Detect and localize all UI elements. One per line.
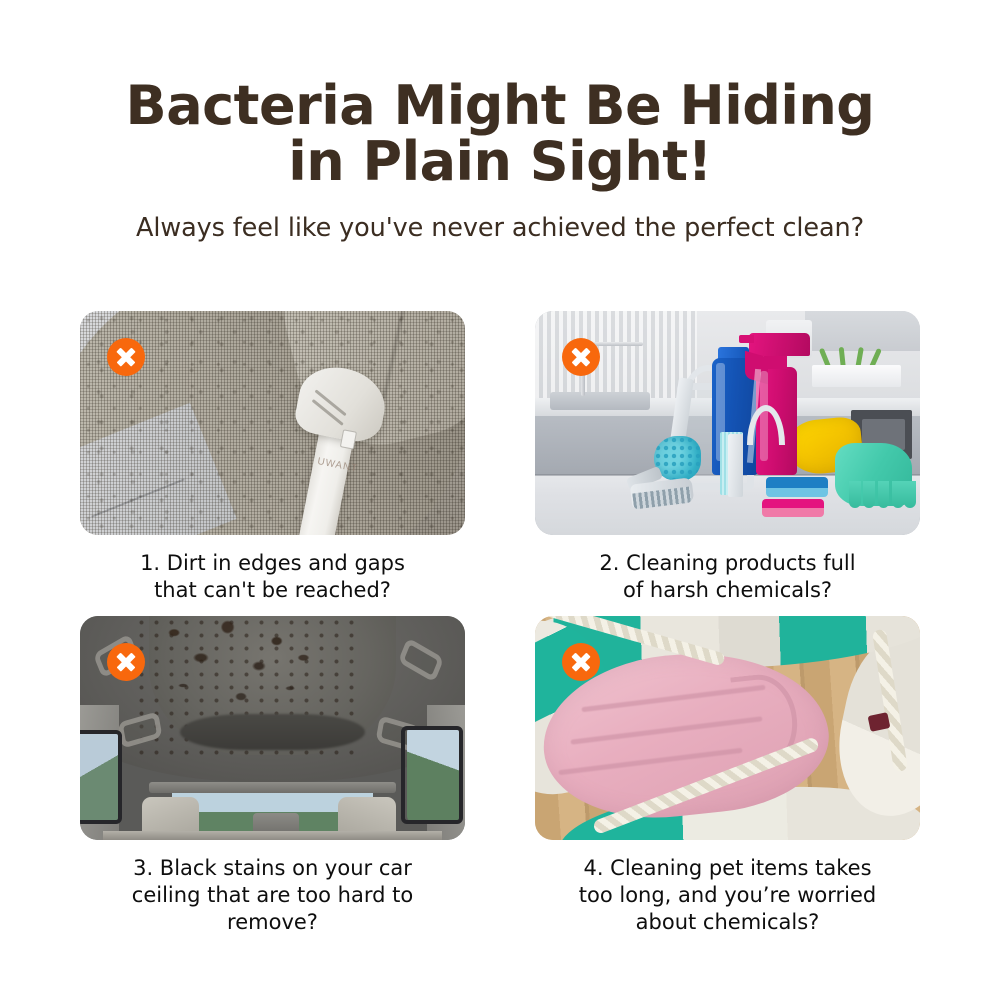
card-2-image xyxy=(535,311,920,535)
header: Bacteria Might Be Hiding in Plain Sight!… xyxy=(0,0,1000,243)
x-mark-icon xyxy=(562,643,600,681)
upper-cabinet xyxy=(805,311,921,351)
pain-point-card-2: 2. Cleaning products full of harsh chemi… xyxy=(535,311,920,604)
card-3-image xyxy=(80,616,465,840)
card-1-caption: 1. Dirt in edges and gaps that can't be … xyxy=(80,550,465,604)
spray-nozzle-tip xyxy=(739,335,754,344)
promo-page: Bacteria Might Be Hiding in Plain Sight!… xyxy=(0,0,1000,983)
x-mark-icon xyxy=(107,338,145,376)
pain-point-grid: UWANT 1. Dirt in edges and gaps that can… xyxy=(80,311,920,935)
card-1-image: UWANT xyxy=(80,311,465,535)
teal-brush-body xyxy=(728,434,743,497)
card-4-caption: 4. Cleaning pet items takes too long, an… xyxy=(535,855,920,936)
left-window-frame xyxy=(80,730,122,824)
card-3-caption: 3. Black stains on your car ceiling that… xyxy=(80,855,465,936)
windshield-header-trim xyxy=(149,782,395,793)
nozzle-release-tab xyxy=(340,429,357,450)
headline-line-1: Bacteria Might Be Hiding xyxy=(126,74,875,137)
page-title: Bacteria Might Be Hiding in Plain Sight! xyxy=(0,78,1000,189)
card-4-image xyxy=(535,616,920,840)
pink-sponge xyxy=(762,499,824,517)
planter-box xyxy=(812,365,901,387)
page-subtitle: Always feel like you've never achieved t… xyxy=(0,213,1000,243)
sunroof-panel xyxy=(180,714,365,750)
dashboard xyxy=(103,831,442,840)
pain-point-card-4: 4. Cleaning pet items takes too long, an… xyxy=(535,616,920,936)
x-mark-icon xyxy=(562,338,600,376)
spray-trigger-head xyxy=(749,333,811,355)
x-mark-icon xyxy=(107,643,145,681)
pain-point-card-1: UWANT 1. Dirt in edges and gaps that can… xyxy=(80,311,465,604)
glove-fingers xyxy=(849,481,914,508)
right-window-frame xyxy=(401,726,463,825)
blue-sponge xyxy=(766,477,828,497)
card-2-caption: 2. Cleaning products full of harsh chemi… xyxy=(535,550,920,604)
pain-point-card-3: 3. Black stains on your car ceiling that… xyxy=(80,616,465,936)
headline-line-2: in Plain Sight! xyxy=(0,134,1000,190)
